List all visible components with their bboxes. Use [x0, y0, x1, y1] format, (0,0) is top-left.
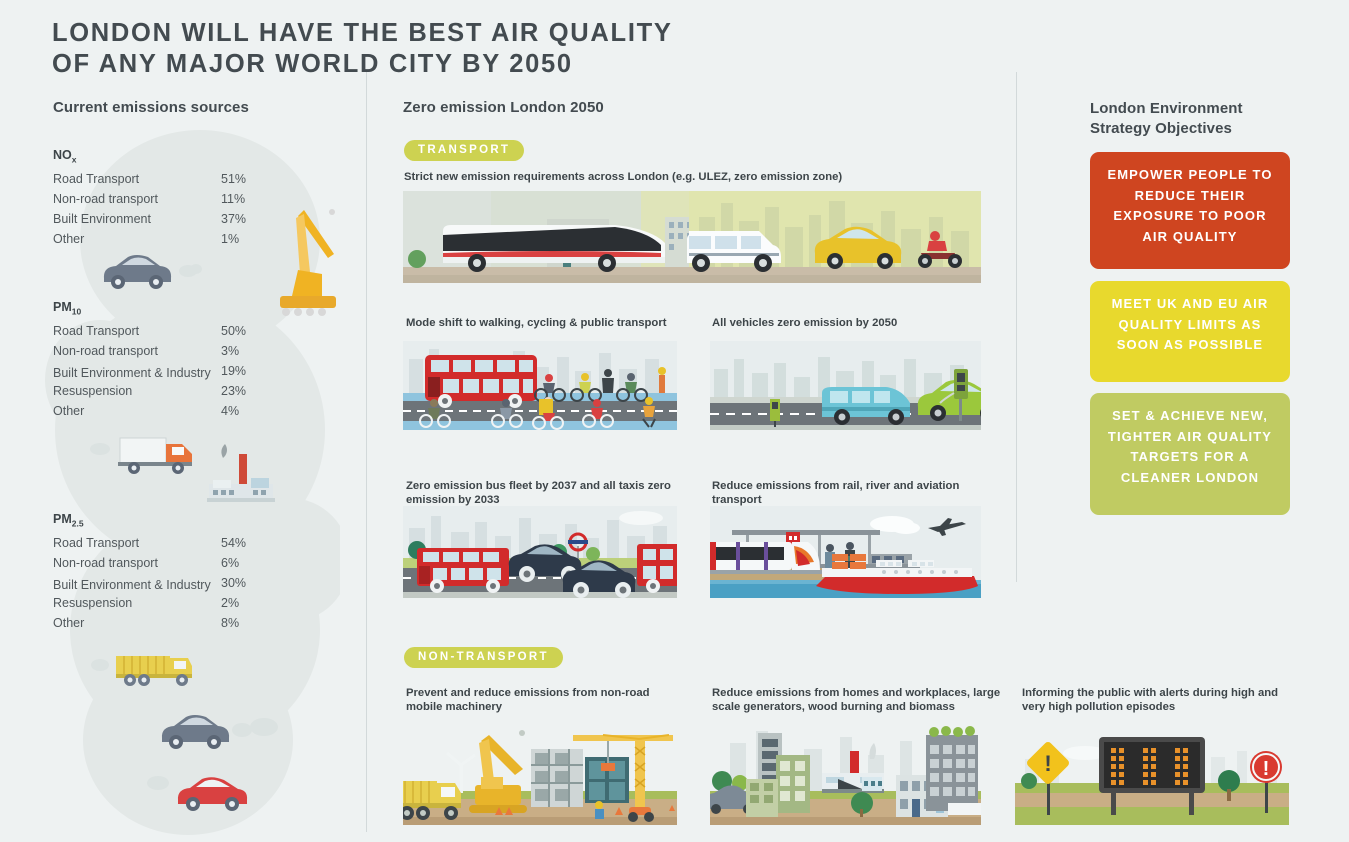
page-title: LONDON WILL HAVE THE BEST AIR QUALITY OF… — [52, 18, 712, 80]
source-label: Other — [53, 613, 221, 633]
objective-card-2[interactable]: Meet UK and EU air quality limits as soo… — [1090, 281, 1290, 382]
illustration-rail-river-aviation — [710, 506, 981, 598]
table-row: Resuspension 23% — [53, 381, 313, 401]
source-label: Built Environment & Industry — [53, 576, 221, 593]
table-row: Built Environment & Industry 19% — [53, 361, 313, 381]
table-row: Other 8% — [53, 613, 313, 633]
emissions-block-pm10: PM10 Road Transport 50% Non-road transpo… — [53, 300, 313, 421]
left-column-heading: Current emissions sources — [53, 99, 249, 116]
source-label: Road Transport — [53, 169, 221, 189]
section-pill-transport: TRANSPORT — [404, 140, 524, 161]
source-value: 19% — [221, 361, 281, 381]
column-divider-left — [366, 72, 367, 832]
source-value: 2% — [221, 593, 281, 613]
source-value: 4% — [221, 401, 281, 421]
svg-text:!: ! — [1263, 758, 1270, 780]
source-value: 23% — [221, 381, 281, 401]
bus-fleet-scene-illustration — [403, 506, 677, 598]
middle-column-heading: Zero emission London 2050 — [403, 99, 604, 116]
source-value: 8% — [221, 613, 281, 633]
rail-river-aviation-illustration — [710, 506, 981, 598]
homes-workplaces-illustration — [710, 719, 981, 825]
factory-icon — [205, 440, 277, 508]
pollution-alert-sign-illustration: ! — [1015, 719, 1289, 825]
caption-homes-and-workplaces: Reduce emissions from homes and workplac… — [712, 686, 1002, 714]
section-pill-non-transport: NON-TRANSPORT — [404, 647, 563, 668]
caption-strict-emission-requirements: Strict new emission requirements across … — [404, 170, 984, 184]
table-row: Road Transport 54% — [53, 533, 313, 553]
source-value: 51% — [221, 169, 281, 189]
pollutant-label-pm25: PM2.5 — [53, 512, 313, 529]
caption-non-road-machinery: Prevent and reduce emissions from non-ro… — [406, 686, 686, 714]
source-label: Built Environment — [53, 209, 221, 229]
source-label: Other — [53, 229, 221, 249]
caption-all-vehicles-zero-emission: All vehicles zero emission by 2050 — [712, 316, 1002, 330]
grey-car-icon-2 — [156, 710, 234, 752]
source-value: 3% — [221, 341, 281, 361]
right-column-heading: London Environment Strategy Objectives — [1090, 99, 1290, 139]
dump-truck-icon — [112, 648, 202, 690]
objective-card-3[interactable]: Set & achieve new, tighter air quality t… — [1090, 393, 1290, 515]
source-label: Road Transport — [53, 533, 221, 553]
table-row: Other 4% — [53, 401, 313, 421]
illustration-zero-emission-bus-fleet — [403, 506, 677, 598]
source-value: 54% — [221, 533, 281, 553]
objective-card-1[interactable]: Empower people to reduce their exposure … — [1090, 152, 1290, 269]
exhaust-cloud-icon — [88, 656, 112, 672]
pollutant-label-pm10: PM10 — [53, 300, 313, 317]
cycling-scene-illustration — [403, 341, 677, 430]
source-label: Built Environment & Industry — [53, 364, 221, 381]
source-label: Other — [53, 401, 221, 421]
source-label: Resuspension — [53, 381, 221, 401]
table-row: Resuspension 2% — [53, 593, 313, 613]
column-divider-right — [1016, 72, 1017, 582]
construction-site-illustration — [403, 719, 677, 825]
table-row: Non-road transport 6% — [53, 553, 313, 573]
exhaust-cloud-icon — [144, 772, 174, 792]
caption-zero-emission-bus-fleet: Zero emission bus fleet by 2037 and all … — [406, 479, 696, 507]
table-row: Road Transport 51% — [53, 169, 313, 189]
table-row: Road Transport 50% — [53, 321, 313, 341]
illustration-public-alerts: ! — [1015, 719, 1289, 825]
table-row: Built Environment & Industry 30% — [53, 573, 313, 593]
source-value: 50% — [221, 321, 281, 341]
grey-car-icon — [98, 250, 176, 292]
illustration-mode-shift — [403, 341, 677, 430]
exhaust-cloud-icon — [88, 440, 112, 456]
box-truck-icon — [112, 432, 200, 478]
caption-rail-river-aviation: Reduce emissions from rail, river and av… — [712, 479, 1002, 507]
exhaust-cloud-icon — [178, 262, 204, 278]
source-label: Resuspension — [53, 593, 221, 613]
illustration-homes-and-workplaces — [710, 719, 981, 825]
caption-public-alerts: Informing the public with alerts during … — [1022, 686, 1302, 714]
source-label: Non-road transport — [53, 341, 221, 361]
table-row: Non-road transport 3% — [53, 341, 313, 361]
source-value: 30% — [221, 573, 281, 593]
source-label: Non-road transport — [53, 189, 221, 209]
illustration-non-road-machinery — [403, 719, 677, 825]
electric-vehicle-scene-illustration — [710, 341, 981, 430]
source-value: 6% — [221, 553, 281, 573]
illustration-strict-emission-requirements-right — [689, 191, 981, 283]
caption-mode-shift: Mode shift to walking, cycling & public … — [406, 316, 696, 330]
emissions-block-pm25: PM2.5 Road Transport 54% Non-road transp… — [53, 512, 313, 633]
street-scene-right-illustration — [689, 191, 981, 283]
source-label: Non-road transport — [53, 553, 221, 573]
svg-text:!: ! — [1044, 751, 1051, 776]
pollutant-label-nox: NOx — [53, 148, 313, 165]
exhaust-cloud-icon — [230, 716, 286, 740]
source-label: Road Transport — [53, 321, 221, 341]
illustration-all-vehicles-zero-emission — [710, 341, 981, 430]
red-car-icon — [172, 772, 254, 814]
